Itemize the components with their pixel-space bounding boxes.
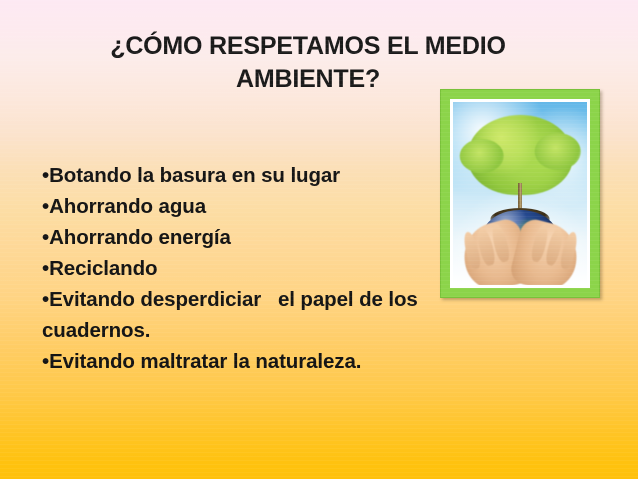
title-line-1: ¿CÓMO RESPETAMOS EL MEDIO (18, 30, 598, 63)
list-item: •Evitando maltratar la naturaleza. (42, 346, 542, 377)
page-title: ¿CÓMO RESPETAMOS EL MEDIO AMBIENTE? (18, 30, 598, 96)
list-item-continuation: cuadernos. (42, 315, 542, 346)
photo-mat (450, 99, 590, 288)
green-photo-frame (440, 89, 600, 298)
earth-tree-hands-image (453, 102, 587, 285)
slide-canvas: ¿CÓMO RESPETAMOS EL MEDIO AMBIENTE? •Bot… (0, 0, 638, 479)
